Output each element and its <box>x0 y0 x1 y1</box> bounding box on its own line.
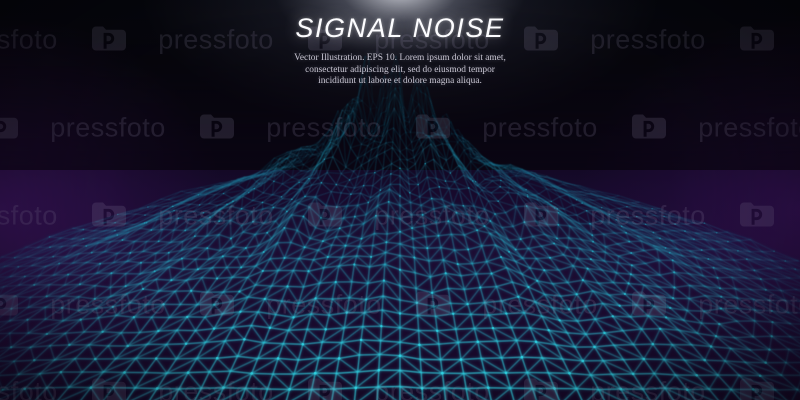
subtitle-text: Vector Illustration. EPS 10. Lorem ipsum… <box>287 53 513 88</box>
page-title: SIGNAL NOISE <box>0 13 800 44</box>
title-block: SIGNAL NOISE Vector Illustration. EPS 10… <box>0 0 800 88</box>
illustration-canvas: pressfotopressfotopressfotopressfotopres… <box>0 0 800 400</box>
